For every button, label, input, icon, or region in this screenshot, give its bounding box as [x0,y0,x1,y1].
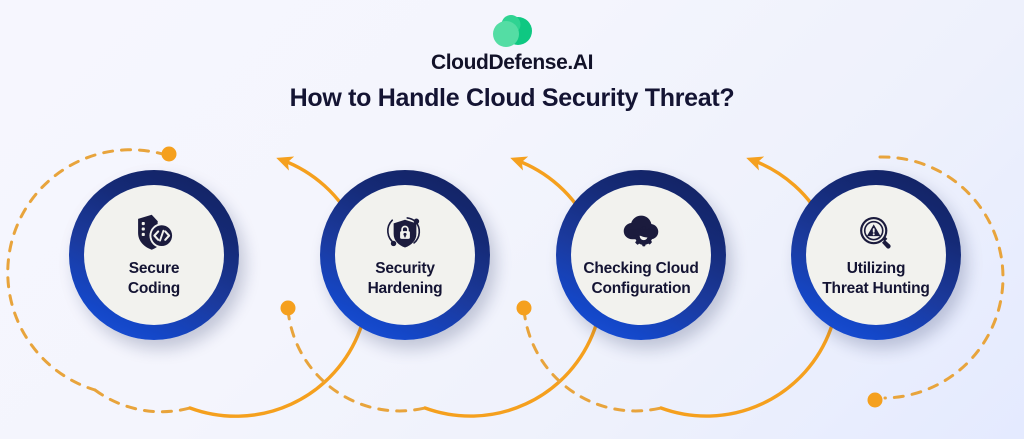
shield-lock-orbit-icon [383,212,427,252]
connector-dashed-arc-bottom-1 [95,390,190,412]
step-label: Secure Coding [122,259,186,299]
cloud-gear-icon [619,212,663,252]
step-disc: Utilizing Threat Hunting [806,185,946,325]
brand-header: CloudDefense.AI [0,14,1024,75]
clouddefense-logo-icon [489,14,535,48]
infographic-canvas: CloudDefense.AI How to Handle Cloud Secu… [0,0,1024,439]
page-title: How to Handle Cloud Security Threat? [0,84,1024,113]
flow-step-checking-cloud-configuration[interactable]: Checking Cloud Configuration [556,170,726,340]
step-label: Utilizing Threat Hunting [816,259,935,299]
step-disc: Secure Coding [84,185,224,325]
flow-step-utilizing-threat-hunting[interactable]: Utilizing Threat Hunting [791,170,961,340]
magnifier-warning-icon [854,212,898,252]
step-label: Checking Cloud Configuration [577,259,704,299]
flow-step-security-hardening[interactable]: Security Hardening [320,170,490,340]
step-disc: Security Hardening [335,185,475,325]
step-label: Security Hardening [362,259,449,299]
shield-code-icon [132,212,176,252]
step-disc: Checking Cloud Configuration [571,185,711,325]
flow-diagram: Secure Coding Security Hard [0,136,1024,436]
flow-step-secure-coding[interactable]: Secure Coding [69,170,239,340]
brand-name: CloudDefense.AI [0,51,1024,75]
